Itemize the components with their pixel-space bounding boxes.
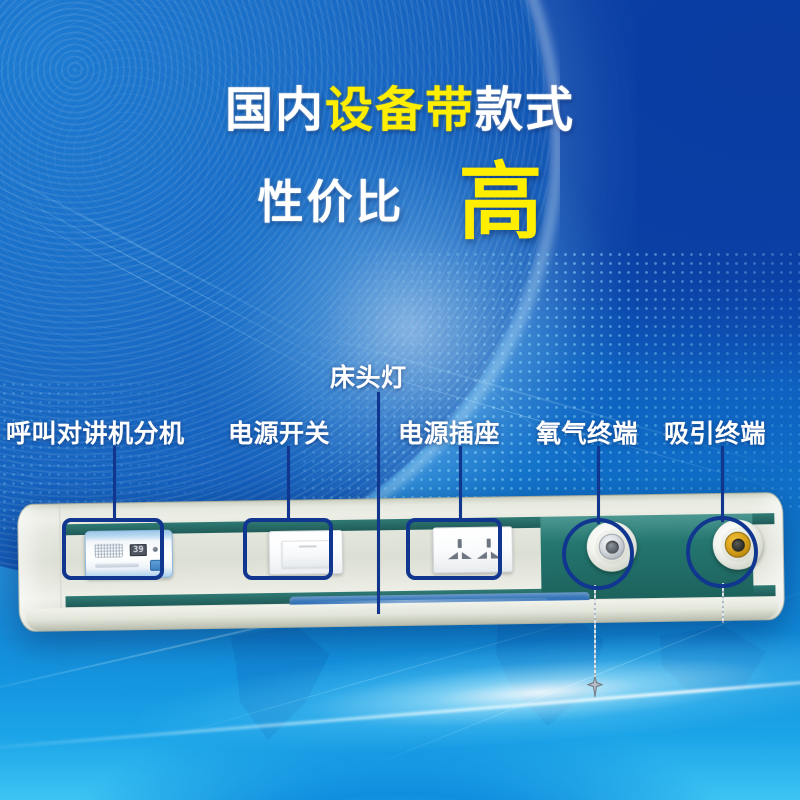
callout-suction-leader (721, 446, 724, 522)
callout-oxygen-leader (597, 446, 600, 524)
callout-power-socket-label: 电源插座 (398, 414, 500, 450)
callout-intercom-label: 呼叫对讲机分机 (6, 414, 185, 450)
callout-suction-label: 吸引终端 (664, 414, 766, 450)
callout-power-switch-label: 电源开关 (228, 414, 330, 450)
callout-bed-lamp-leader (377, 392, 380, 614)
promo-image-root: 国内设备带款式 性价比 高 呼叫对讲机分机 电源开关 床头灯 电源插座 氧气终端… (0, 0, 800, 800)
callout-oxygen-label: 氧气终端 (536, 414, 638, 450)
callout-group: 呼叫对讲机分机 电源开关 床头灯 电源插座 氧气终端 吸引终端 (0, 0, 800, 800)
callout-power-socket-leader (459, 446, 462, 518)
callout-bed-lamp-label: 床头灯 (330, 358, 407, 394)
callout-intercom-leader (113, 446, 116, 518)
callout-power-switch-leader (287, 446, 290, 522)
